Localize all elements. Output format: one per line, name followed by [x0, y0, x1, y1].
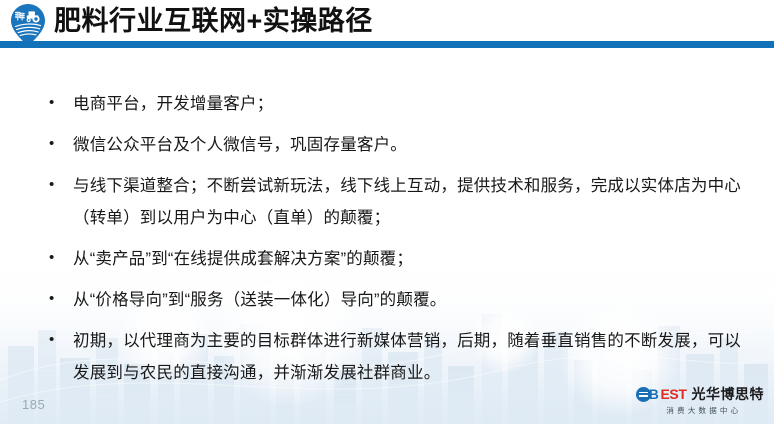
brand-logo: B EST 光华博思特 消费大数据中心 [636, 384, 764, 416]
bullet-marker: • [46, 325, 73, 355]
bullet-marker: • [46, 284, 73, 314]
list-item: • 初期，以代理商为主要的目标群体进行新媒体营销，后期，随着垂直销售的不断发展，… [46, 325, 746, 389]
list-item: • 从“卖产品”到“在线提供成套解决方案”的颠覆； [46, 243, 746, 275]
list-item: • 从“价格导向”到“服务（送装一体化）导向”的颠覆。 [46, 284, 746, 316]
brand-letters-est: EST [660, 386, 686, 402]
list-item-text: 与线下渠道整合；不断尝试新玩法，线下线上互动，提供技术和服务，完成以实体店为中心… [73, 170, 746, 234]
bullet-list: • 电商平台，开发增量客户； • 微信公众平台及个人微信号，巩固存量客户。 • … [46, 88, 746, 398]
bullet-marker: • [46, 129, 73, 159]
page-title: 肥料行业互联网+实操路径 [54, 3, 373, 39]
list-item: • 电商平台，开发增量客户； [46, 88, 746, 120]
slide-header: 肥料行业互联网+实操路径 [0, 0, 774, 48]
bullet-marker: • [46, 243, 73, 273]
brand-name-cn: 光华博思特 [692, 384, 765, 404]
brand-emblem-icon [636, 387, 651, 402]
list-item: • 微信公众平台及个人微信号，巩固存量客户。 [46, 129, 746, 161]
bullet-marker: • [46, 88, 73, 118]
header-divider [0, 41, 774, 48]
list-item-text: 微信公众平台及个人微信号，巩固存量客户。 [73, 129, 746, 161]
slide: 肥料行业互联网+实操路径 • 电商平台，开发增量客户； • 微信公众平台及个人微… [0, 0, 774, 424]
brand-logo-main: B EST 光华博思特 [636, 384, 764, 404]
page-number: 185 [22, 397, 45, 412]
bullet-marker: • [46, 170, 73, 200]
list-item: • 与线下渠道整合；不断尝试新玩法，线下线上互动，提供技术和服务，完成以实体店为… [46, 170, 746, 234]
list-item-text: 电商平台，开发增量客户； [73, 88, 746, 120]
list-item-text: 初期，以代理商为主要的目标群体进行新媒体营销，后期，随着垂直销售的不断发展，可以… [73, 325, 746, 389]
list-item-text: 从“价格导向”到“服务（送装一体化）导向”的颠覆。 [73, 284, 746, 316]
brand-subtitle: 消费大数据中心 [666, 405, 741, 416]
list-item-text: 从“卖产品”到“在线提供成套解决方案”的颠覆； [73, 243, 746, 275]
